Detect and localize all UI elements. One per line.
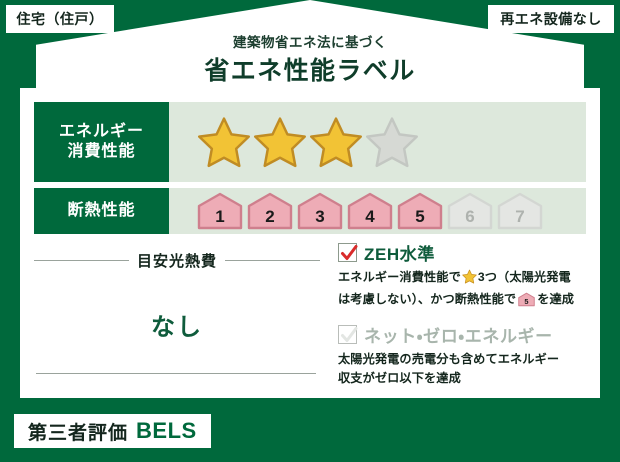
zeh-description-part1: エネルギー消費性能で <box>338 270 461 284</box>
star-filled-icon <box>197 115 251 169</box>
zeh-criterion-header: ZEH水準 <box>338 240 588 265</box>
insulation-level-value: 7 <box>515 208 524 230</box>
insulation-level-1: 1 <box>197 192 243 230</box>
criteria-panel: ZEH水準 エネルギー消費性能で3つ（太陽光発電 は考慮しない）、かつ断熱性能で… <box>338 240 588 388</box>
insulation-level-value: 6 <box>465 208 474 230</box>
net-zero-description-line2: 収支がゼロ以下を達成 <box>338 371 461 385</box>
zeh-description-part2: は考慮しない）、かつ断熱性能で <box>338 292 516 306</box>
renewable-equipment-badge: 再エネ設備なし <box>488 5 614 33</box>
rule-left <box>34 260 129 261</box>
bels-program-name: BELS <box>136 418 197 444</box>
insulation-level-value: 4 <box>365 208 374 230</box>
bels-badge: 第三者評価 BELS <box>14 414 211 448</box>
svg-text:5: 5 <box>525 297 529 306</box>
insulation-level-3: 3 <box>297 192 343 230</box>
zeh-description-part3: を達成 <box>537 292 574 306</box>
energy-performance-row: エネルギー 消費性能 <box>34 102 586 182</box>
inline-house-level-icon: 5 <box>518 292 535 313</box>
energy-performance-label-line2: 消費性能 <box>67 142 135 162</box>
insulation-performance-row: 断熱性能 1234567 <box>34 188 586 234</box>
star-filled-icon <box>253 115 307 169</box>
bels-evaluation-label: 第三者評価 <box>28 418 128 445</box>
net-zero-title: ネット・ゼロ・エネルギー <box>364 322 553 347</box>
insulation-level-6: 6 <box>447 192 493 230</box>
utility-cost-bottom-rule <box>36 373 316 374</box>
insulation-level-scale: 1234567 <box>169 188 586 234</box>
insulation-level-2: 2 <box>247 192 293 230</box>
zeh-description-stars: 3つ（太陽光発電 <box>478 270 571 284</box>
utility-cost-heading-text: 目安光熱費 <box>137 250 217 271</box>
zeh-title: ZEH水準 <box>364 240 435 265</box>
net-zero-checkbox-unchecked-icon <box>338 325 357 344</box>
rule-right <box>225 260 320 261</box>
star-rating <box>169 102 586 182</box>
utility-cost-panel: 目安光熱費 なし <box>34 246 320 384</box>
energy-performance-label-box: エネルギー 消費性能 <box>34 102 169 182</box>
insulation-level-value: 2 <box>265 208 274 230</box>
insulation-level-4: 4 <box>347 192 393 230</box>
utility-cost-value: なし <box>34 307 320 342</box>
net-zero-description-line1: 太陽光発電の売電分も含めてエネルギー <box>338 352 559 366</box>
building-type-badge: 住宅（住戸） <box>6 5 114 33</box>
zeh-description: エネルギー消費性能で3つ（太陽光発電 は考慮しない）、かつ断熱性能で5を達成 <box>338 268 588 313</box>
star-empty-icon <box>365 115 419 169</box>
star-filled-icon <box>309 115 363 169</box>
insulation-performance-label-box: 断熱性能 <box>34 188 169 234</box>
insulation-level-value: 3 <box>315 208 324 230</box>
insulation-level-value: 1 <box>215 208 224 230</box>
insulation-level-7: 7 <box>497 192 543 230</box>
inline-star-icon <box>462 269 477 290</box>
utility-cost-heading: 目安光熱費 <box>34 250 320 271</box>
insulation-level-5: 5 <box>397 192 443 230</box>
label-body-card: エネルギー 消費性能 断熱性能 1234567 目安光熱費 なし <box>20 88 600 398</box>
zeh-checkbox-checked-icon <box>338 243 357 262</box>
energy-performance-label-line1: エネルギー <box>59 122 144 142</box>
criteria-spacer <box>338 313 588 322</box>
insulation-level-value: 5 <box>415 208 424 230</box>
insulation-performance-label: 断熱性能 <box>67 201 135 221</box>
energy-performance-label: 建築物省エネ法に基づく 省エネ性能ラベル 住宅（住戸） 再エネ設備なし エネルギ… <box>0 0 620 462</box>
net-zero-criterion-header: ネット・ゼロ・エネルギー <box>338 322 588 347</box>
net-zero-description: 太陽光発電の売電分も含めてエネルギー 収支がゼロ以下を達成 <box>338 350 588 388</box>
